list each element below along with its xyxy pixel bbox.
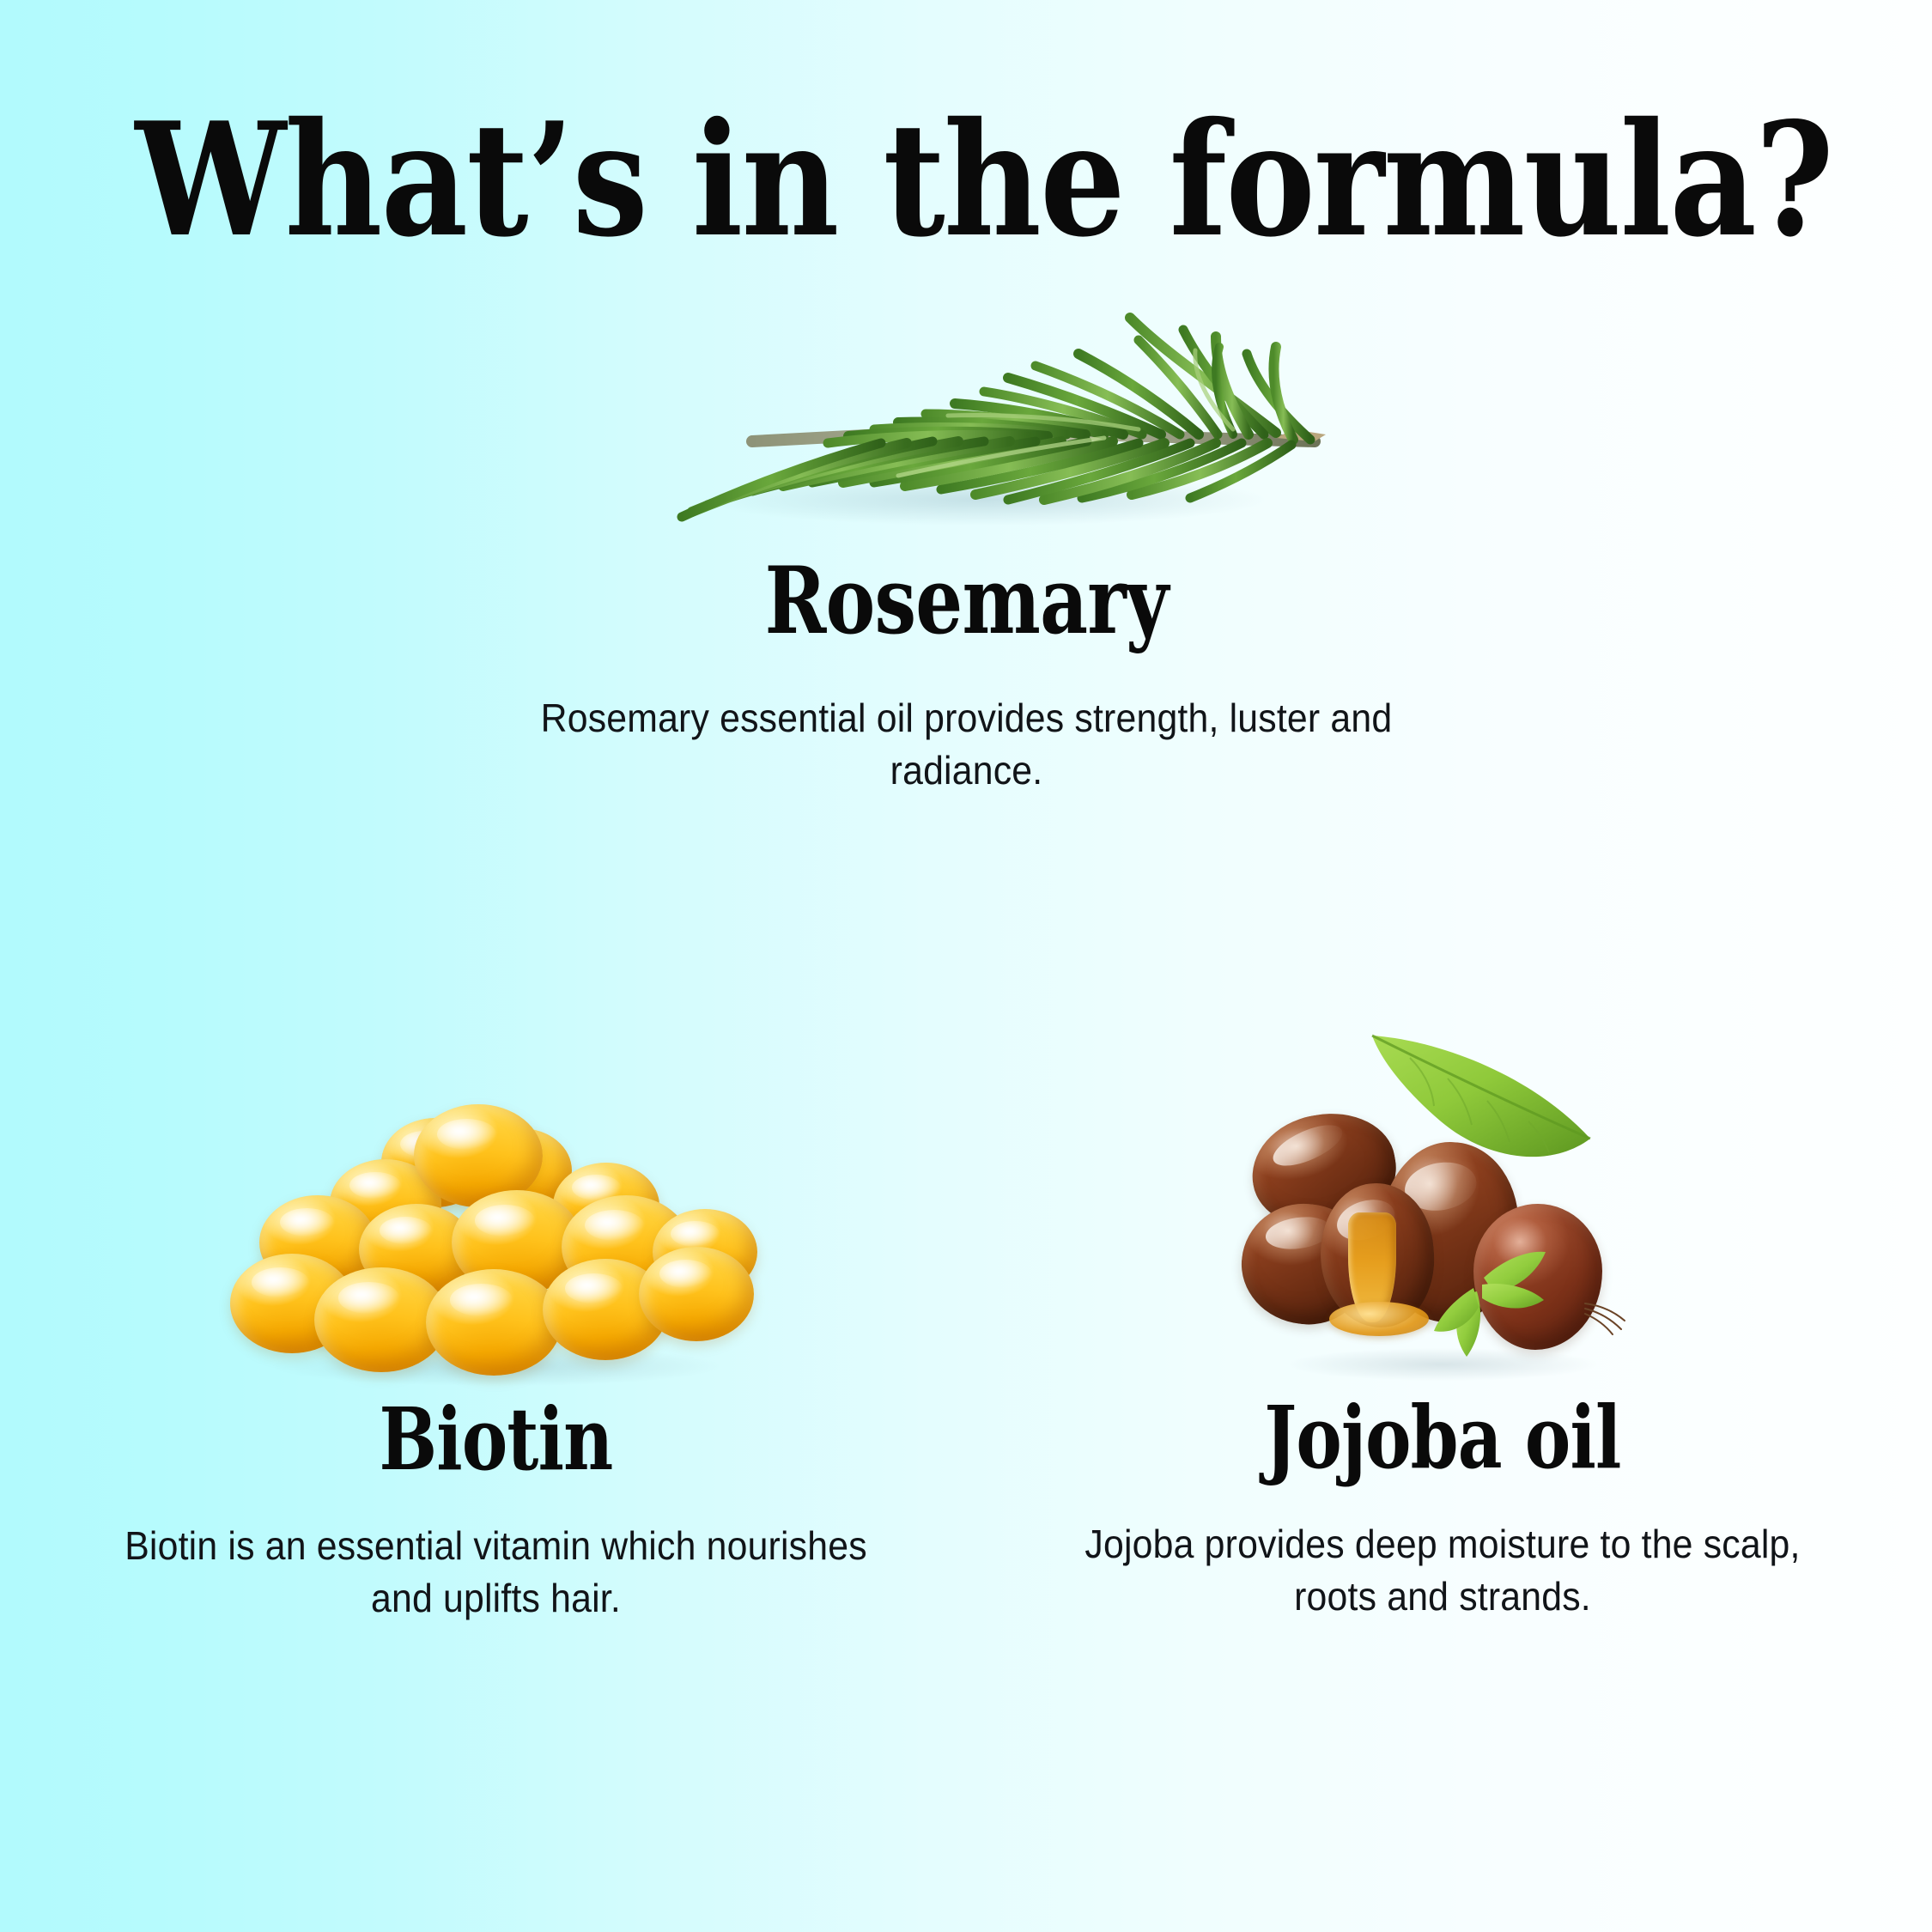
ingredient-name-rosemary: Rosemary: [546, 555, 1388, 647]
jojoba-oil-pool: [1329, 1302, 1429, 1336]
capsule: [639, 1247, 754, 1341]
jojoba-seeds-icon: [1219, 1013, 1666, 1382]
rosemary-image: [440, 258, 1492, 541]
ingredient-description-jojoba: Jojoba provides deep moisture to the sca…: [1043, 1518, 1842, 1622]
ingredient-card-biotin: Biotin Biotin is an essential vitamin wh…: [60, 1099, 932, 1624]
ingredient-description-rosemary: Rosemary essential oil provides strength…: [477, 692, 1455, 796]
biotin-image: [60, 1099, 932, 1391]
jojoba-seed-tail-icon: [1583, 1291, 1635, 1340]
page-title: What’s in the formula?: [136, 101, 1797, 258]
biotin-capsules-icon: [222, 1099, 771, 1382]
ingredient-description-biotin: Biotin is an essential vitamin which nou…: [91, 1520, 902, 1624]
ingredient-name-biotin: Biotin: [148, 1396, 845, 1482]
rosemary-sprig-icon: [538, 258, 1396, 541]
jojoba-leaf-small-icon: [1424, 1228, 1552, 1365]
ingredient-card-jojoba: Jojoba oil Jojoba provides deep moisture…: [1013, 1013, 1872, 1622]
ingredient-name-jojoba: Jojoba oil: [1099, 1394, 1786, 1480]
jojoba-image: [1013, 1013, 1872, 1391]
ingredient-card-rosemary: Rosemary Rosemary essential oil provides…: [440, 258, 1492, 796]
capsule: [426, 1269, 562, 1376]
